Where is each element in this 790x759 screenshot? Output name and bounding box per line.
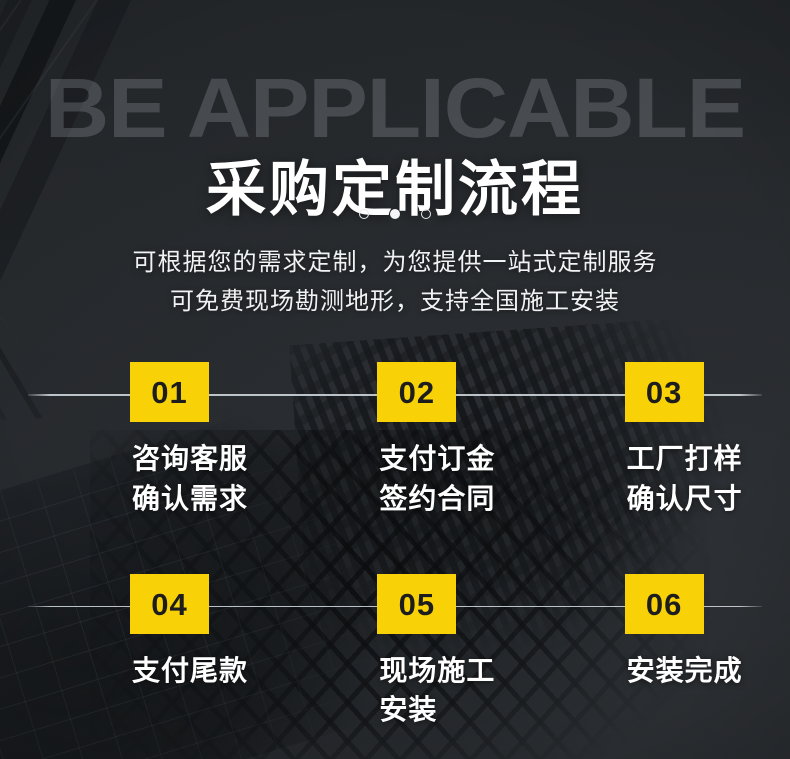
process-step-row-2: 04 支付尾款 05 现场施工 安装 06 安装完成 <box>0 574 790 731</box>
step-number-badge: 04 <box>130 574 209 634</box>
step-number-badge: 05 <box>377 574 456 634</box>
step-label-line: 支付尾款 <box>132 651 248 691</box>
process-step-02[interactable]: 02 支付订金 签约合同 <box>271 362 518 519</box>
step-label-line: 咨询客服 <box>132 439 248 479</box>
step-label: 工厂打样 确认尺寸 <box>625 439 743 519</box>
step-number-badge: 06 <box>625 574 704 634</box>
carousel-dots <box>0 209 790 219</box>
step-label-line: 安装完成 <box>627 651 743 691</box>
step-label: 安装完成 <box>625 651 743 691</box>
step-label: 咨询客服 确认需求 <box>130 439 248 519</box>
process-step-06[interactable]: 06 安装完成 <box>519 574 766 731</box>
watermark-text: BE APPLICABLE <box>0 66 790 150</box>
process-step-03[interactable]: 03 工厂打样 确认尺寸 <box>519 362 766 519</box>
step-label-line: 签约合同 <box>379 479 495 519</box>
promo-poster: BE APPLICABLE 采购定制流程 可根据您的需求定制，为您提供一站式定制… <box>0 0 790 759</box>
step-number-badge: 02 <box>377 362 456 422</box>
step-label: 现场施工 安装 <box>377 651 495 731</box>
carousel-dot-1[interactable] <box>359 209 369 219</box>
step-label-line: 现场施工 <box>379 651 495 691</box>
step-number-badge: 01 <box>130 362 209 422</box>
subtitle: 可根据您的需求定制，为您提供一站式定制服务 可免费现场勘测地形，支持全国施工安装 <box>0 244 790 322</box>
step-label-line: 安装 <box>379 690 495 730</box>
process-step-04[interactable]: 04 支付尾款 <box>24 574 271 731</box>
carousel-dot-2[interactable] <box>390 209 400 219</box>
step-label-line: 确认尺寸 <box>627 479 743 519</box>
process-steps: 01 咨询客服 确认需求 02 支付订金 签约合同 03 工厂打样 确认尺寸 <box>0 362 790 730</box>
step-label-line: 工厂打样 <box>627 439 743 479</box>
process-step-row-1: 01 咨询客服 确认需求 02 支付订金 签约合同 03 工厂打样 确认尺寸 <box>0 362 790 519</box>
step-label: 支付尾款 <box>130 651 248 691</box>
step-number-badge: 03 <box>625 362 704 422</box>
process-step-01[interactable]: 01 咨询客服 确认需求 <box>24 362 271 519</box>
subtitle-line-2: 可免费现场勘测地形，支持全国施工安装 <box>0 283 790 322</box>
carousel-dot-3[interactable] <box>421 209 431 219</box>
step-label-line: 支付订金 <box>379 439 495 479</box>
step-label: 支付订金 签约合同 <box>377 439 495 519</box>
process-step-05[interactable]: 05 现场施工 安装 <box>271 574 518 731</box>
subtitle-line-1: 可根据您的需求定制，为您提供一站式定制服务 <box>0 244 790 283</box>
step-label-line: 确认需求 <box>132 479 248 519</box>
